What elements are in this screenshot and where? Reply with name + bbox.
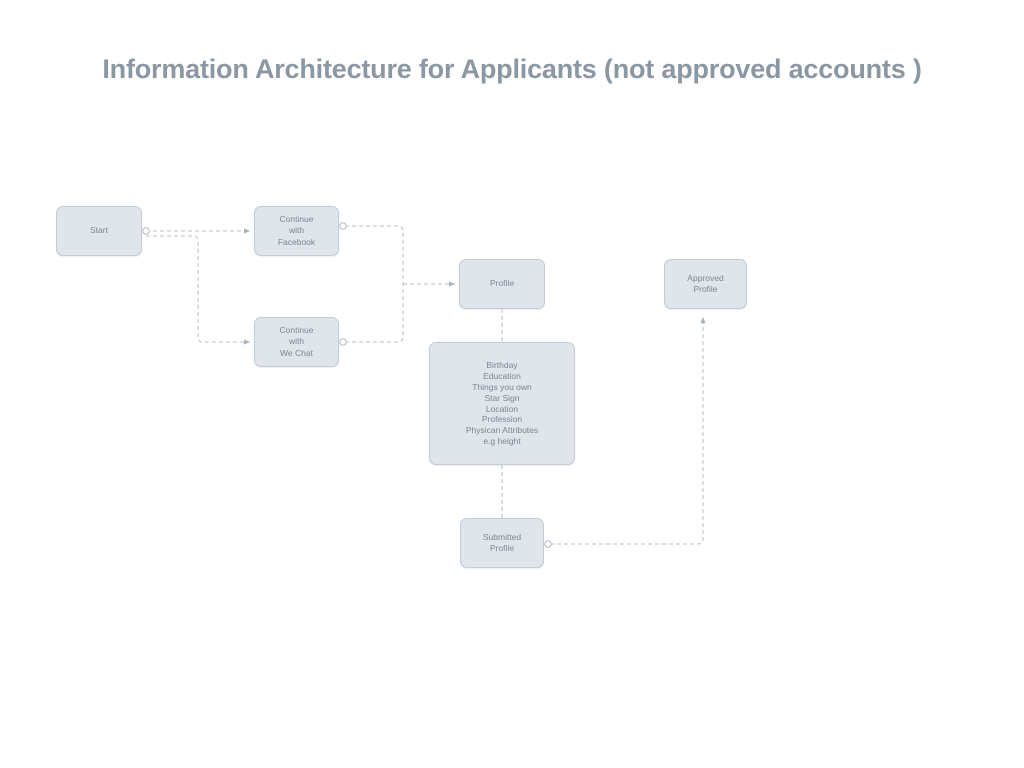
node-continue-with-facebook-label: Continue with Facebook	[274, 214, 319, 248]
edge-wechat-to-profile	[345, 284, 403, 342]
node-profile-label: Profile	[486, 278, 518, 289]
node-approved-profile-label: Approved Profile	[683, 273, 727, 296]
port-start-out	[143, 228, 149, 234]
node-approved-profile[interactable]: Approved Profile	[664, 259, 747, 309]
node-start-label: Start	[86, 225, 112, 236]
node-submitted-profile[interactable]: Submitted Profile	[460, 518, 544, 568]
node-continue-with-wechat[interactable]: Continue with We Chat	[254, 317, 339, 367]
node-profile-attributes[interactable]: Birthday Education Things you own Star S…	[429, 342, 575, 465]
page-title: Information Architecture for Applicants …	[0, 54, 1024, 85]
node-continue-with-facebook[interactable]: Continue with Facebook	[254, 206, 339, 256]
port-facebook-out	[340, 223, 346, 229]
node-submitted-profile-label: Submitted Profile	[479, 532, 525, 555]
node-start[interactable]: Start	[56, 206, 142, 256]
node-profile[interactable]: Profile	[459, 259, 545, 309]
port-wechat-out	[340, 339, 346, 345]
slide-canvas: Information Architecture for Applicants …	[0, 0, 1024, 768]
port-submitted-out	[545, 541, 551, 547]
edge-start-to-wechat	[146, 236, 250, 342]
node-continue-with-wechat-label: Continue with We Chat	[275, 325, 317, 359]
edge-facebook-to-profile	[345, 226, 403, 284]
node-profile-attributes-label: Birthday Education Things you own Star S…	[462, 360, 542, 447]
